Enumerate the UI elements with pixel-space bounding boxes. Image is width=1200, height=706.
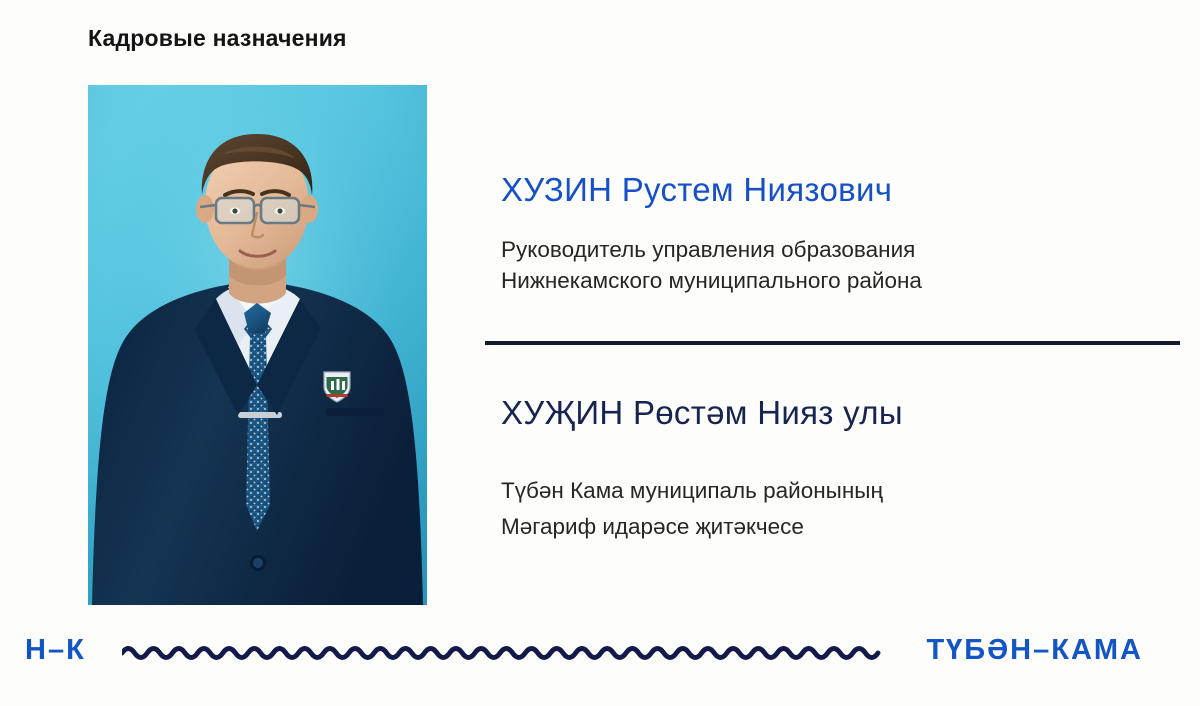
appointment-details: ХУЗИН Рустем Ниязович Руководитель управ… bbox=[501, 85, 1191, 605]
wave-divider-icon bbox=[122, 636, 882, 670]
person-role-russian: Руководитель управления образования Нижн… bbox=[501, 234, 922, 296]
person-role-russian-line1: Руководитель управления образования bbox=[501, 234, 922, 265]
portrait-photo bbox=[88, 85, 427, 605]
page-title: Кадровые назначения bbox=[88, 25, 347, 52]
personnel-appointment-card: Кадровые назначения bbox=[0, 0, 1200, 706]
brand-name-right: ТҮБӘН–КАМА bbox=[926, 634, 1143, 667]
person-name-russian: ХУЗИН Рустем Ниязович bbox=[501, 171, 892, 209]
person-role-tatar-line2: Мәгариф идарәсе җитәкчесе bbox=[501, 509, 883, 545]
person-role-tatar-line1: Түбән Кама муниципаль районының bbox=[501, 473, 883, 509]
brand-abbreviation-left: Н–К bbox=[25, 634, 86, 667]
footer-branding: Н–К ТҮБӘН–КАМА bbox=[0, 618, 1200, 706]
person-role-tatar: Түбән Кама муниципаль районының Мәгариф … bbox=[501, 473, 883, 545]
person-role-russian-line2: Нижнекамского муниципального района bbox=[501, 265, 922, 296]
section-divider bbox=[485, 341, 1180, 345]
person-name-tatar: ХУҖИН Рөстәм Нияз улы bbox=[501, 394, 903, 432]
